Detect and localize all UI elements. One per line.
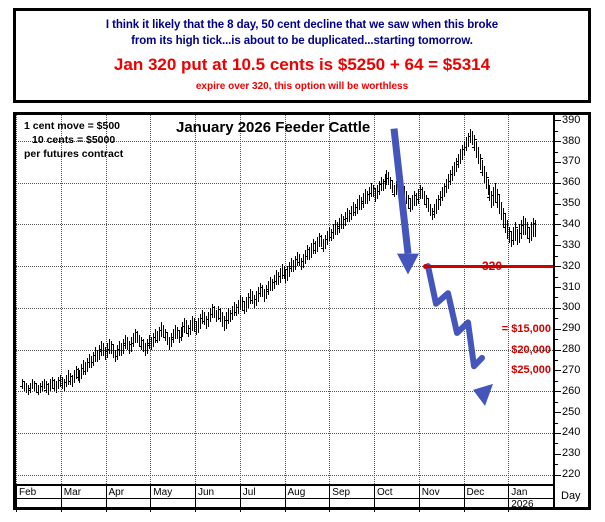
price-bar: [113, 345, 114, 358]
price-bar-open-tick: [472, 147, 474, 148]
price-bar: [299, 254, 300, 267]
price-bar: [327, 231, 328, 246]
price-bar: [525, 218, 526, 235]
price-bar: [74, 370, 75, 383]
price-tick-370: [555, 162, 561, 163]
price-bar: [408, 195, 409, 208]
price-bar-open-tick: [107, 349, 109, 350]
price-bar: [93, 352, 94, 367]
price-bar: [228, 308, 229, 325]
price-bar: [347, 208, 348, 223]
price-bar: [478, 147, 479, 164]
price-label-280: 280: [562, 344, 580, 355]
price-bar: [177, 327, 178, 340]
price-bar: [533, 218, 534, 237]
price-tick-320: [555, 266, 561, 267]
price-bar: [499, 195, 500, 214]
price-label-230: 230: [562, 448, 580, 459]
price-bar: [355, 204, 356, 217]
price-bar: [418, 189, 419, 204]
price-bar: [101, 341, 102, 356]
price-bar: [151, 337, 152, 350]
price-bar: [270, 277, 271, 292]
price-bar: [523, 216, 524, 235]
price-bar: [284, 266, 285, 279]
month-label-Oct: Oct: [377, 487, 393, 498]
price-label-370: 370: [562, 156, 580, 167]
price-bar: [276, 270, 277, 285]
price-bar: [424, 191, 425, 204]
price-bar-open-tick: [487, 197, 489, 198]
price-bar: [87, 358, 88, 373]
price-bar: [309, 247, 310, 260]
price-tick-250: [555, 412, 561, 413]
price-label-340: 340: [562, 219, 580, 230]
month-label-Jun: Jun: [198, 487, 214, 498]
chart-frame: 320 = $15,000 $20,000 $25,000 1 cent mov…: [13, 112, 591, 510]
price-tick-minor-255: [555, 402, 558, 403]
price-bar: [335, 220, 336, 235]
commentary-blue-line-1: I think it likely that the 8 day, 50 cen…: [16, 19, 588, 31]
price-bar: [145, 343, 146, 356]
price-bar: [147, 339, 148, 354]
price-bar: [458, 154, 459, 169]
price-bar-open-tick: [416, 199, 418, 200]
price-bar: [182, 322, 183, 337]
price-bar-open-tick: [194, 331, 196, 332]
price-bar: [216, 310, 217, 323]
price-bar: [163, 325, 164, 338]
price-bar-open-tick: [163, 337, 165, 338]
price-bar: [68, 370, 69, 385]
gridline-v-Oct: [374, 115, 375, 484]
price-bar: [462, 145, 463, 160]
price-bar: [371, 183, 372, 198]
price-bar-open-tick: [480, 172, 482, 173]
price-bar: [454, 162, 455, 177]
price-bar-open-tick: [274, 281, 276, 282]
price-bar: [109, 339, 110, 354]
gridline-v-Mar: [61, 115, 62, 484]
price-bar-open-tick: [131, 343, 133, 344]
price-tick-minor-275: [555, 360, 558, 361]
price-bar: [295, 256, 296, 271]
price-bar: [64, 379, 65, 392]
price-bar: [234, 302, 235, 317]
price-bar-open-tick: [139, 346, 141, 347]
price-bar: [531, 222, 532, 241]
month-label-Jan: Jan: [511, 487, 527, 498]
price-bar: [81, 364, 82, 379]
price-bar: [420, 185, 421, 200]
price-bar: [210, 308, 211, 323]
month-cell-Jul: Jul: [240, 486, 285, 512]
price-bar: [394, 185, 395, 198]
price-bar-open-tick: [155, 340, 157, 341]
price-tick-310: [555, 287, 561, 288]
price-bar: [50, 379, 51, 392]
price-label-360: 360: [562, 177, 580, 188]
price-bar: [83, 360, 84, 375]
price-bar: [293, 260, 294, 273]
price-bar: [392, 181, 393, 194]
price-tick-340: [555, 224, 561, 225]
price-bar-open-tick: [527, 238, 529, 239]
price-tick-270: [555, 370, 561, 371]
price-bar: [266, 285, 267, 300]
month-cell-Nov: Nov: [419, 486, 464, 512]
price-bar: [390, 177, 391, 190]
price-label-250: 250: [562, 407, 580, 418]
price-bar: [357, 199, 358, 214]
price-tick-minor-265: [555, 381, 558, 382]
note-line-1: 1 cent move = $500: [24, 119, 123, 133]
price-bar: [315, 241, 316, 254]
month-label-Jul: Jul: [243, 487, 256, 498]
price-tick-390: [555, 120, 561, 121]
month-cell-Feb: Feb: [16, 486, 61, 512]
day-axis-label: Day: [561, 490, 581, 502]
price-bar: [123, 339, 124, 354]
price-bar-open-tick: [250, 300, 252, 301]
price-bar: [153, 333, 154, 348]
month-cell-Dec: Dec: [464, 486, 509, 512]
price-bar-open-tick: [313, 250, 315, 251]
price-bar: [535, 220, 536, 237]
price-bar: [30, 383, 31, 393]
contract-value-note: 1 cent move = $500 10 cents = $5000 per …: [24, 119, 123, 161]
price-bar-open-tick: [147, 345, 149, 346]
price-bar-open-tick: [369, 193, 371, 194]
price-bar: [202, 310, 203, 325]
price-bar-open-tick: [99, 351, 101, 352]
price-bar: [365, 189, 366, 204]
price-bar: [444, 183, 445, 198]
price-bar: [184, 318, 185, 333]
price-bar: [521, 220, 522, 239]
price-bar: [58, 377, 59, 390]
price-bar: [501, 202, 502, 221]
price-bar: [426, 195, 427, 208]
price-label-300: 300: [562, 302, 580, 313]
price-bar: [323, 239, 324, 252]
price-bar-open-tick: [495, 202, 497, 203]
price-bar: [434, 204, 435, 219]
price-bar: [476, 141, 477, 158]
price-bar: [396, 181, 397, 196]
chart-screenshot: I think it likely that the 8 day, 50 cen…: [0, 0, 605, 522]
price-bar: [345, 212, 346, 227]
price-bar-open-tick: [115, 356, 117, 357]
month-cell-Apr: Apr: [106, 486, 151, 512]
price-bar: [363, 193, 364, 208]
price-bar: [428, 199, 429, 212]
price-bar: [422, 187, 423, 200]
price-bar: [107, 343, 108, 358]
price-bar: [287, 266, 288, 281]
price-bar: [398, 177, 399, 192]
price-bar: [165, 329, 166, 342]
month-label-May: May: [153, 487, 172, 498]
price-bar-open-tick: [218, 318, 220, 319]
price-bar: [125, 335, 126, 350]
gridline-v-Apr: [106, 115, 107, 484]
price-bar: [121, 343, 122, 356]
price-bar: [250, 289, 251, 304]
gridline-v-Feb: [16, 115, 17, 484]
price-bar: [222, 312, 223, 327]
price-bar: [383, 179, 384, 192]
month-label-Mar: Mar: [64, 487, 81, 498]
price-bar: [70, 373, 71, 386]
price-bar: [212, 304, 213, 319]
price-bar: [385, 174, 386, 189]
price-bar: [297, 252, 298, 267]
price-bar: [280, 268, 281, 283]
price-bar: [272, 279, 273, 292]
price-bar: [464, 141, 465, 156]
price-bar: [497, 189, 498, 208]
price-bar: [111, 341, 112, 354]
price-bar-open-tick: [234, 312, 236, 313]
price-bar-open-tick: [28, 390, 30, 391]
gridline-v-Nov: [419, 115, 420, 484]
price-bar: [446, 179, 447, 194]
price-tick-280: [555, 350, 561, 351]
price-bar-open-tick: [226, 320, 228, 321]
price-tick-230: [555, 454, 561, 455]
month-label-Aug: Aug: [288, 487, 306, 498]
price-bar: [105, 347, 106, 360]
price-bar: [339, 218, 340, 233]
month-cell-Oct: Oct: [374, 486, 419, 512]
price-bar-open-tick: [503, 227, 505, 228]
price-label-320: 320: [562, 261, 580, 272]
price-bar: [452, 166, 453, 181]
price-tick-260: [555, 391, 561, 392]
price-bar: [325, 235, 326, 250]
price-tick-360: [555, 183, 561, 184]
price-tick-350: [555, 204, 561, 205]
price-bar: [157, 331, 158, 344]
price-bar: [388, 172, 389, 185]
price-bar-open-tick: [448, 181, 450, 182]
price-bar-open-tick: [345, 218, 347, 219]
price-bar: [89, 354, 90, 369]
price-bar: [246, 297, 247, 312]
price-bar: [236, 304, 237, 317]
price-bar-open-tick: [210, 314, 212, 315]
price-bar: [285, 270, 286, 283]
price-bar: [268, 281, 269, 296]
month-label-Nov: Nov: [422, 487, 440, 498]
price-bar: [359, 195, 360, 210]
price-bar: [196, 322, 197, 335]
price-bar: [484, 166, 485, 183]
price-bar-open-tick: [91, 362, 93, 363]
month-label-Feb: Feb: [19, 487, 36, 498]
price-bar: [468, 133, 469, 148]
price-bar: [406, 191, 407, 204]
price-bar-open-tick: [400, 192, 402, 193]
month-year-label: 2026: [511, 499, 533, 510]
price-bar: [274, 275, 275, 290]
price-bar: [341, 214, 342, 229]
price-label-270: 270: [562, 365, 580, 376]
price-bar: [400, 179, 401, 192]
price-bar: [155, 329, 156, 344]
price-bar: [186, 320, 187, 333]
price-bar-open-tick: [392, 194, 394, 195]
price-bar: [238, 300, 239, 315]
price-label-260: 260: [562, 386, 580, 397]
price-bar: [192, 316, 193, 331]
price-bar: [54, 379, 55, 392]
price-bar: [149, 335, 150, 350]
price-tick-minor-345: [555, 214, 558, 215]
price-bar-open-tick: [456, 164, 458, 165]
price-bar-open-tick: [83, 371, 85, 372]
price-bar: [127, 337, 128, 350]
price-bar: [313, 239, 314, 254]
price-bar: [414, 191, 415, 206]
month-cell-Jun: Jun: [195, 486, 240, 512]
price-bar: [78, 368, 79, 381]
price-bar: [198, 318, 199, 333]
price-bar: [252, 291, 253, 304]
price-bar: [402, 183, 403, 196]
price-bar: [289, 262, 290, 277]
price-label-220: 220: [562, 469, 580, 480]
price-bar-open-tick: [353, 212, 355, 213]
price-axis: 3903803703603503403303203103002902802702…: [553, 115, 588, 484]
price-bar-open-tick: [20, 386, 22, 387]
price-bar: [515, 222, 516, 241]
price-bar: [167, 333, 168, 346]
money-note-20000: $20,000: [456, 344, 551, 356]
price-bar: [507, 220, 508, 239]
price-bar: [436, 199, 437, 214]
price-bar: [369, 187, 370, 202]
price-bar-open-tick: [258, 293, 260, 294]
price-bar: [317, 237, 318, 252]
price-tick-minor-235: [555, 443, 558, 444]
price-bar-open-tick: [242, 310, 244, 311]
price-bar: [329, 227, 330, 242]
price-bar-open-tick: [361, 203, 363, 204]
price-bar-open-tick: [202, 321, 204, 322]
month-cell-Aug: Aug: [285, 486, 330, 512]
price-bar-open-tick: [424, 204, 426, 205]
price-bar: [282, 264, 283, 279]
price-bar-open-tick: [186, 333, 188, 334]
price-bar-open-tick: [408, 208, 410, 209]
price-bar: [472, 131, 473, 146]
price-bar: [430, 204, 431, 217]
price-tick-minor-295: [555, 318, 558, 319]
price-bar: [489, 185, 490, 202]
price-bar: [85, 362, 86, 375]
price-bar: [40, 383, 41, 393]
price-bar: [505, 214, 506, 233]
price-bar: [343, 216, 344, 229]
price-bar-open-tick: [329, 237, 331, 238]
price-bar-close-tick: [487, 177, 489, 178]
price-bar: [56, 381, 57, 394]
price-label-310: 310: [562, 282, 580, 293]
price-bar: [353, 202, 354, 217]
price-bar: [509, 227, 510, 244]
price-tick-minor-325: [555, 256, 558, 257]
gridline-v-May: [150, 115, 151, 484]
gridline-v-Dec: [464, 115, 465, 484]
price-bar: [311, 243, 312, 258]
price-bar-open-tick: [266, 291, 268, 292]
plot-clip: [16, 115, 553, 484]
plot-area: 320 = $15,000 $20,000 $25,000 1 cent mov…: [16, 115, 553, 484]
month-cell-May: May: [150, 486, 195, 512]
price-bar-open-tick: [282, 275, 284, 276]
price-bar: [214, 306, 215, 319]
price-bar: [307, 245, 308, 260]
price-bar: [103, 343, 104, 356]
price-bar: [386, 170, 387, 185]
price-tick-minor-285: [555, 339, 558, 340]
price-bar: [42, 381, 43, 391]
month-label-Dec: Dec: [467, 487, 485, 498]
price-tick-minor-225: [555, 464, 558, 465]
price-bar: [99, 345, 100, 360]
price-bar: [171, 333, 172, 348]
price-bar: [95, 347, 96, 362]
strike-price-label: 320: [482, 259, 502, 273]
price-bar: [133, 333, 134, 348]
price-bar: [373, 185, 374, 198]
price-bar: [303, 254, 304, 269]
price-bar: [470, 129, 471, 144]
price-bar-open-tick: [305, 256, 307, 257]
commentary-red-headline: Jan 320 put at 10.5 cents is $5250 + 64 …: [16, 55, 588, 75]
price-bar: [62, 377, 63, 390]
price-bar-close-tick: [481, 158, 483, 159]
price-bar-open-tick: [384, 181, 386, 182]
price-bar: [256, 291, 257, 306]
price-bar-open-tick: [179, 337, 181, 338]
price-bar-open-tick: [76, 377, 78, 378]
price-tick-300: [555, 308, 561, 309]
price-bar: [381, 177, 382, 192]
price-tick-minor-335: [555, 235, 558, 236]
price-bar: [367, 191, 368, 204]
gridline-v-Sep: [329, 115, 330, 484]
price-tick-330: [555, 245, 561, 246]
price-bar: [135, 329, 136, 344]
price-bar-close-tick: [475, 139, 477, 140]
month-cell-Sep: Sep: [329, 486, 374, 512]
commentary-blue-line-2: from its high tick...is about to be dupl…: [16, 35, 588, 47]
price-bar: [119, 341, 120, 356]
month-axis: FebMarAprMayJunJulAugSepOctNovDecJan2026: [16, 484, 553, 510]
price-bar: [190, 320, 191, 335]
price-label-330: 330: [562, 240, 580, 251]
price-bar-open-tick: [464, 147, 466, 148]
price-bar: [181, 327, 182, 342]
month-label-Sep: Sep: [332, 487, 350, 498]
price-bar: [32, 379, 33, 389]
strike-price-anchor-dot: [423, 264, 428, 269]
price-label-380: 380: [562, 136, 580, 147]
price-bar: [491, 191, 492, 208]
